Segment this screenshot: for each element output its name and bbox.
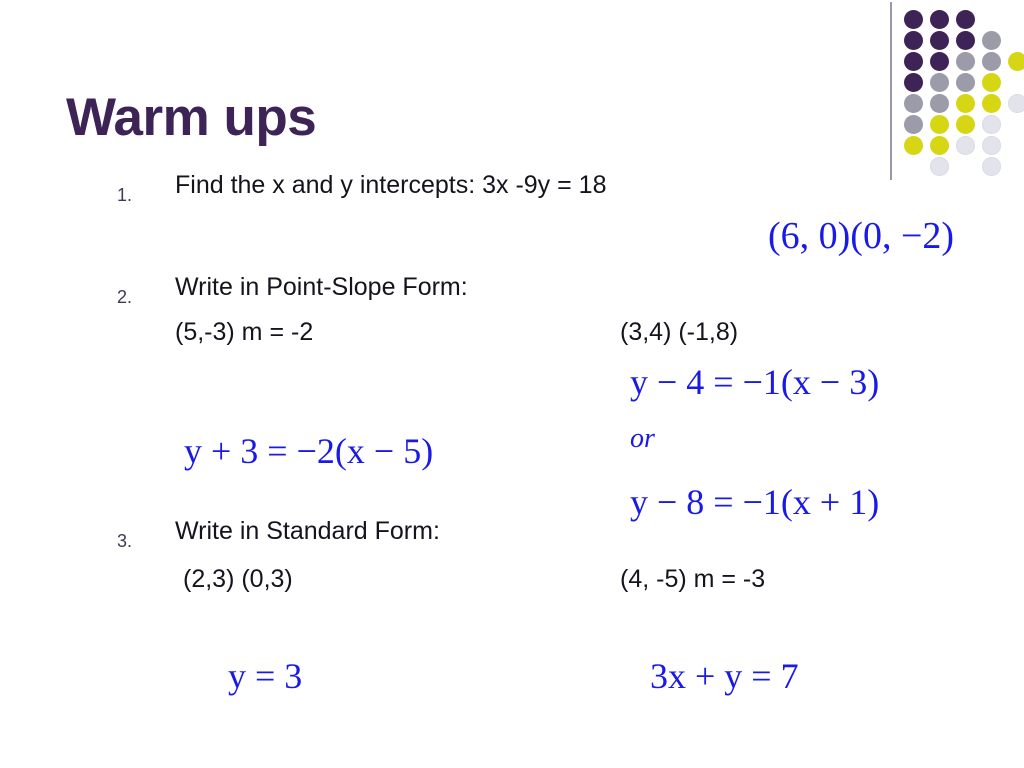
decor-dot-gray xyxy=(956,52,975,71)
vertical-divider-line xyxy=(890,2,892,180)
decor-dot-faint xyxy=(982,136,1001,155)
decor-dot-yellow xyxy=(1008,52,1024,71)
item-2-right-given: (3,4) (-1,8) xyxy=(620,318,738,347)
decor-dot-yellow xyxy=(982,73,1001,92)
slide-canvas: Warm ups 1. Find the x and y intercepts:… xyxy=(0,0,1024,768)
answer-2-right-first: y − 4 = −1(x − 3) xyxy=(630,361,879,403)
decor-dot-gray xyxy=(982,31,1001,50)
answer-2-left: y + 3 = −2(x − 5) xyxy=(184,430,433,472)
decor-dot-faint xyxy=(956,136,975,155)
answer-1-intercepts: (6, 0)(0, −2) xyxy=(768,214,954,258)
decor-dot-gray xyxy=(956,73,975,92)
list-item-2-prompt: Write in Point-Slope Form: xyxy=(175,273,468,302)
decor-dot-yellow xyxy=(930,115,949,134)
item-2-left-given: (5,-3) m = -2 xyxy=(175,318,313,347)
decor-dot-purple xyxy=(930,52,949,71)
decor-dot-purple xyxy=(930,31,949,50)
list-number-3: 3. xyxy=(117,531,132,552)
decor-dot-yellow xyxy=(930,136,949,155)
dot-grid-decoration xyxy=(884,0,1024,182)
decor-dot-gray xyxy=(930,73,949,92)
list-item-1-prompt: Find the x and y intercepts: 3x -9y = 18 xyxy=(175,171,606,200)
decor-dot-faint xyxy=(930,157,949,176)
answer-2-right-second: y − 8 = −1(x + 1) xyxy=(630,481,879,523)
decor-dot-yellow xyxy=(956,115,975,134)
list-number-2: 2. xyxy=(117,287,132,308)
decor-dot-purple xyxy=(930,10,949,29)
decor-dot-purple xyxy=(904,10,923,29)
decor-dot-faint xyxy=(1008,94,1024,113)
answer-2-or-connector: or xyxy=(630,423,655,455)
decor-dot-yellow xyxy=(904,136,923,155)
decor-dot-purple xyxy=(904,31,923,50)
decor-dot-purple xyxy=(904,52,923,71)
item-3-right-given: (4, -5) m = -3 xyxy=(620,565,765,594)
list-number-1: 1. xyxy=(117,185,132,206)
decor-dot-gray xyxy=(904,94,923,113)
list-item-3-prompt: Write in Standard Form: xyxy=(175,517,440,546)
decor-dot-gray xyxy=(930,94,949,113)
answer-3-left: y = 3 xyxy=(228,655,302,697)
decor-dot-gray xyxy=(904,115,923,134)
decor-dot-faint xyxy=(982,115,1001,134)
decor-dot-yellow xyxy=(982,94,1001,113)
decor-dot-yellow xyxy=(956,94,975,113)
decor-dot-purple xyxy=(956,10,975,29)
answer-3-right: 3x + y = 7 xyxy=(650,655,799,697)
decor-dot-faint xyxy=(982,157,1001,176)
decor-dot-purple xyxy=(904,73,923,92)
page-title: Warm ups xyxy=(66,90,316,146)
item-3-left-given: (2,3) (0,3) xyxy=(183,565,293,594)
decor-dot-gray xyxy=(982,52,1001,71)
decor-dot-purple xyxy=(956,31,975,50)
